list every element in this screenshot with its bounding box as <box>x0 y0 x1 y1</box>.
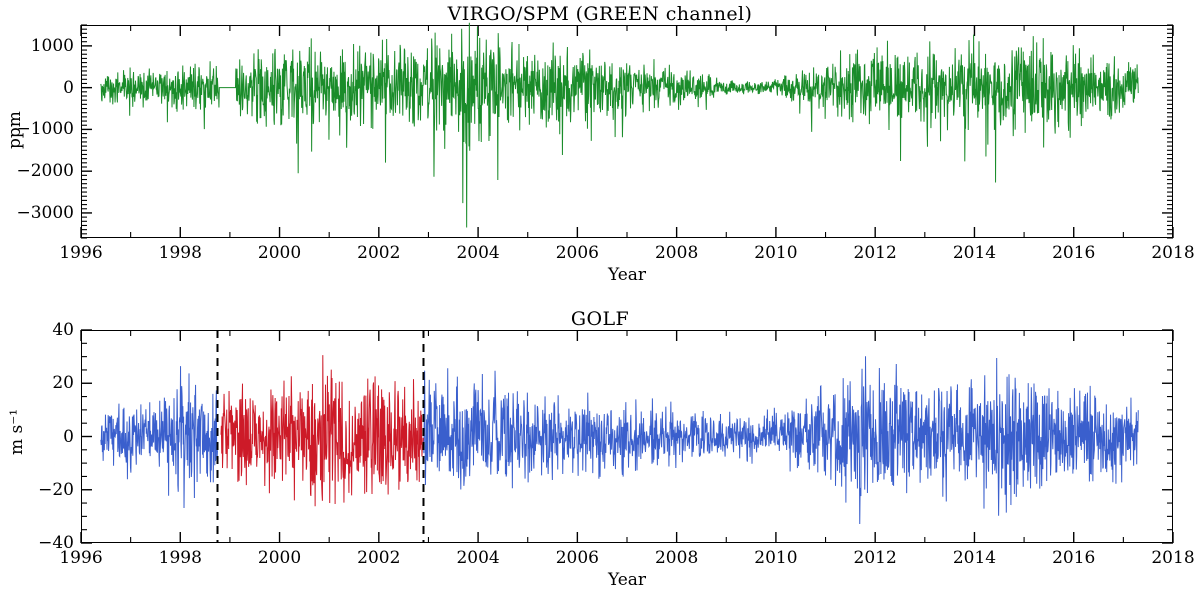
y-tick-label: −3000 <box>16 203 81 223</box>
x-tick-label: 2018 <box>1151 243 1194 263</box>
golf-panel-title: GOLF <box>0 308 1200 330</box>
x-tick-label: 1998 <box>159 548 202 568</box>
x-tick-label: 1996 <box>59 243 102 263</box>
virgo-panel-title: VIRGO/SPM (GREEN channel) <box>0 3 1200 25</box>
y-tick-label: 0 <box>63 78 81 98</box>
x-tick-label: 2012 <box>854 243 897 263</box>
x-tick-label: 2014 <box>953 548 996 568</box>
y-tick-label: 1000 <box>31 36 81 56</box>
panel-golf: GOLF m s⁻¹ 40200−20−40 19961998200020022… <box>0 305 1200 591</box>
y-tick-label: −20 <box>38 480 81 500</box>
x-tick-label: 2018 <box>1151 548 1194 568</box>
x-tick-label: 2006 <box>556 548 599 568</box>
virgo-y-tick-labels: 10000−1000−2000−3000 <box>0 25 81 238</box>
x-tick-label: 2010 <box>754 243 797 263</box>
x-tick-label: 2014 <box>953 243 996 263</box>
figure-root: VIRGO/SPM (GREEN channel) ppm 10000−1000… <box>0 0 1200 591</box>
x-tick-label: 2004 <box>456 243 499 263</box>
golf-svg-canvas <box>81 330 1173 543</box>
x-tick-label: 2008 <box>655 548 698 568</box>
data-trace <box>423 356 1138 524</box>
golf-y-tick-labels: 40200−20−40 <box>0 330 81 543</box>
y-tick-label: −1000 <box>16 119 81 139</box>
x-tick-label: 2008 <box>655 243 698 263</box>
x-tick-label: 2012 <box>854 548 897 568</box>
x-tick-label: 2002 <box>357 548 400 568</box>
panel-virgo-spm: VIRGO/SPM (GREEN channel) ppm 10000−1000… <box>0 0 1200 290</box>
y-tick-label: −2000 <box>16 161 81 181</box>
data-trace <box>101 366 218 508</box>
golf-x-tick-labels: 1996199820002002200420062008201020122014… <box>81 548 1173 572</box>
x-tick-label: 2006 <box>556 243 599 263</box>
x-tick-label: 2010 <box>754 548 797 568</box>
x-tick-label: 2002 <box>357 243 400 263</box>
virgo-x-tick-labels: 1996199820002002200420062008201020122014… <box>81 243 1173 267</box>
x-tick-label: 2016 <box>1052 243 1095 263</box>
golf-x-axis-label: Year <box>81 570 1173 590</box>
x-tick-label: 2016 <box>1052 548 1095 568</box>
virgo-svg-canvas <box>81 25 1173 238</box>
data-trace <box>101 23 1138 228</box>
y-tick-label: 40 <box>52 320 81 340</box>
x-tick-label: 2000 <box>258 548 301 568</box>
virgo-x-axis-label: Year <box>81 265 1173 285</box>
x-tick-label: 2000 <box>258 243 301 263</box>
x-tick-label: 2004 <box>456 548 499 568</box>
x-tick-label: 1998 <box>159 243 202 263</box>
y-tick-label: 0 <box>63 427 81 447</box>
x-tick-label: 1996 <box>59 548 102 568</box>
data-trace <box>221 355 424 506</box>
y-tick-label: 20 <box>52 373 81 393</box>
